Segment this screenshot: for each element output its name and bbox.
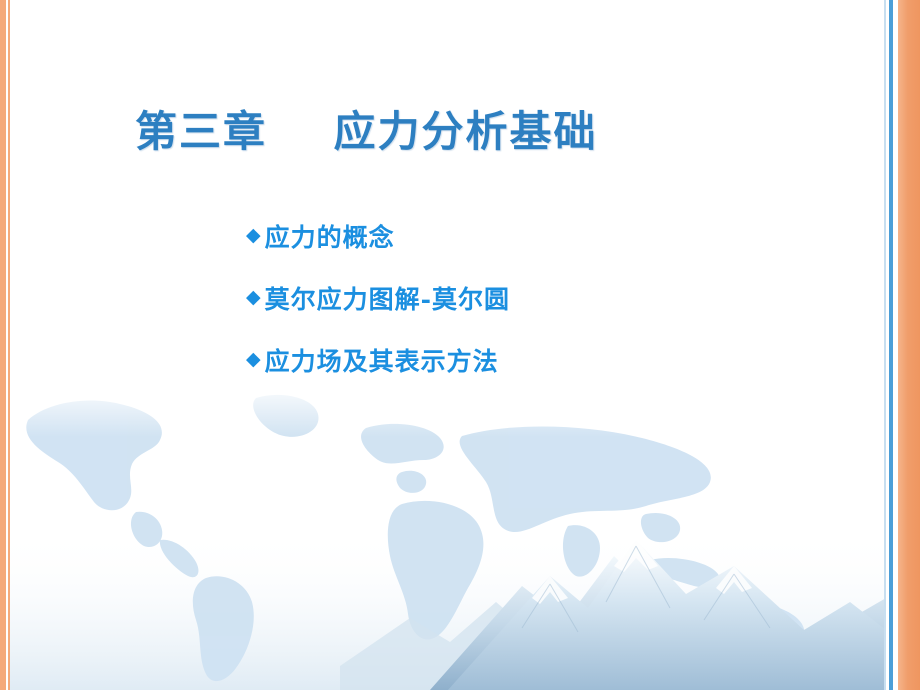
- left-border-rail-inner: [6, 0, 8, 690]
- list-item-label: 应力场及其表示方法: [265, 342, 499, 378]
- diamond-bullet-icon: ◆: [246, 226, 261, 245]
- list-item: ◆ 应力场及其表示方法: [246, 329, 806, 391]
- left-border-rail: [0, 0, 10, 690]
- slide: 第三章 应力分析基础 ◆ 应力的概念 ◆ 莫尔应力图解-莫尔圆 ◆ 应力场及其表…: [0, 0, 920, 690]
- list-item-label: 应力的概念: [265, 218, 395, 254]
- diamond-bullet-icon: ◆: [246, 288, 261, 307]
- list-item: ◆ 应力的概念: [246, 205, 806, 267]
- list-item-label: 莫尔应力图解-莫尔圆: [265, 280, 510, 316]
- background-artwork: [10, 380, 886, 690]
- list-item: ◆ 莫尔应力图解-莫尔圆: [246, 267, 806, 329]
- page-title: 第三章 应力分析基础: [135, 98, 598, 159]
- diamond-bullet-icon: ◆: [246, 350, 261, 369]
- right-border-rail: [898, 0, 920, 690]
- bullet-list: ◆ 应力的概念 ◆ 莫尔应力图解-莫尔圆 ◆ 应力场及其表示方法: [246, 205, 806, 391]
